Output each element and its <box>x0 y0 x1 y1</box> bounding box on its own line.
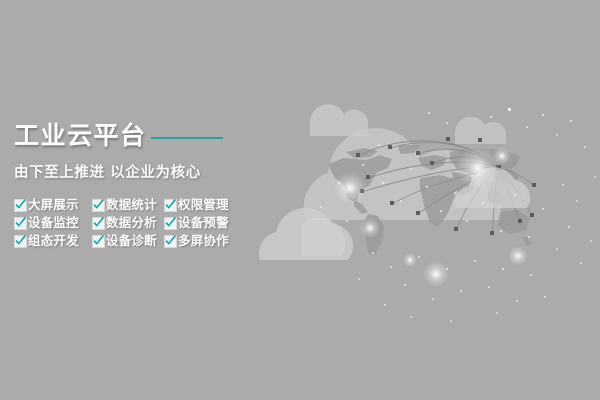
hero-subtitle: 由下至上推进 以企业为核心 <box>14 161 250 182</box>
check-icon <box>14 199 27 212</box>
page-title: 工业云平台 <box>14 123 147 148</box>
check-icon <box>164 235 177 248</box>
feature-label: 数据分析 <box>106 217 157 230</box>
feature-item: 组态开发 <box>14 235 92 248</box>
feature-item: 数据分析 <box>92 217 164 230</box>
feature-item: 数据统计 <box>92 199 164 212</box>
feature-label: 组态开发 <box>28 235 79 248</box>
feature-label: 多屏协作 <box>178 235 229 248</box>
check-icon <box>92 199 105 212</box>
feature-label: 设备诊断 <box>106 235 157 248</box>
title-accent-rule <box>151 137 223 139</box>
check-icon <box>164 199 177 212</box>
hero-title-row: 工业云平台 <box>14 118 250 152</box>
hero-banner: 工业云平台 由下至上推进 以企业为核心 大屏展示 数据统计 <box>0 0 600 400</box>
check-icon <box>14 235 27 248</box>
feature-label: 数据统计 <box>106 199 157 212</box>
check-icon <box>164 217 177 230</box>
feature-label: 设备监控 <box>28 217 79 230</box>
feature-list: 大屏展示 数据统计 权限管理 <box>14 199 250 248</box>
check-icon <box>14 217 27 230</box>
feature-label: 大屏展示 <box>28 199 79 212</box>
check-icon <box>92 235 105 248</box>
feature-item: 设备诊断 <box>92 235 164 248</box>
feature-label: 设备预警 <box>178 217 229 230</box>
feature-item: 设备预警 <box>164 217 250 230</box>
feature-label: 权限管理 <box>178 199 229 212</box>
cloud-world-network-illustration <box>250 60 600 340</box>
feature-item: 大屏展示 <box>14 199 92 212</box>
check-icon <box>92 217 105 230</box>
feature-item: 设备监控 <box>14 217 92 230</box>
feature-item: 权限管理 <box>164 199 250 212</box>
feature-item: 多屏协作 <box>164 235 250 248</box>
hero-copy: 工业云平台 由下至上推进 以企业为核心 大屏展示 数据统计 <box>14 118 250 248</box>
